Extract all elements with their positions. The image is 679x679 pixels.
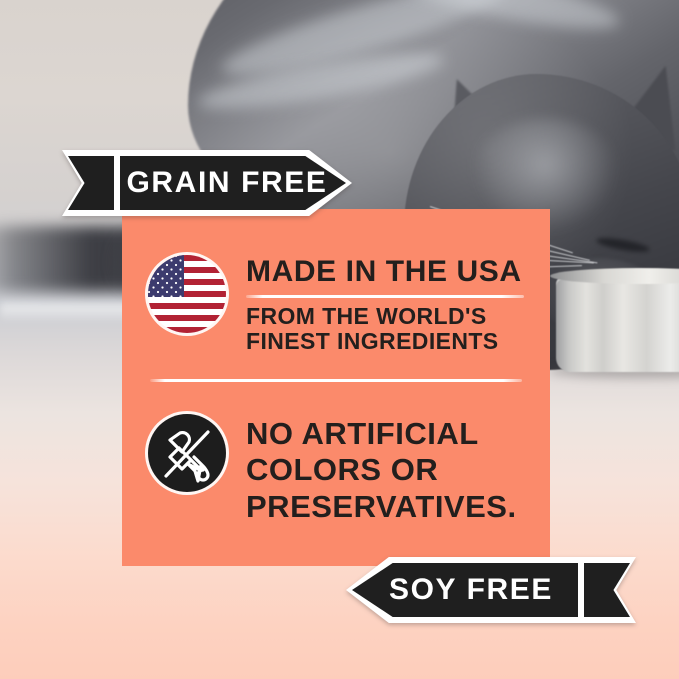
feature-headline-line-1: NO ARTIFICIAL [246, 416, 524, 452]
food-bowl [556, 276, 679, 372]
banner-tail-right [578, 557, 636, 623]
feature-card: MADE IN THE USA FROM THE WORLD'S FINEST … [122, 209, 550, 566]
feature-made-in-usa: MADE IN THE USA FROM THE WORLD'S FINEST … [148, 255, 524, 355]
feature-subline-2: FINEST INGREDIENTS [246, 329, 524, 355]
feature-subline-1: FROM THE WORLD'S [246, 304, 524, 330]
section-divider [150, 379, 522, 382]
banner-label: GRAIN FREE [114, 150, 352, 216]
banner-soy-free: SOY FREE [346, 557, 636, 623]
banner-text: GRAIN FREE [126, 166, 327, 200]
headline-underline [246, 295, 524, 298]
product-feature-graphic: MADE IN THE USA FROM THE WORLD'S FINEST … [0, 0, 679, 679]
feature-headline-line-2: COLORS OR [246, 452, 524, 488]
feature-headline: MADE IN THE USA [246, 257, 524, 288]
banner-tail-left [62, 150, 120, 216]
banner-label: SOY FREE [346, 557, 584, 623]
feature-no-artificial: NO ARTIFICIAL COLORS OR PRESERVATIVES. [148, 414, 524, 525]
banner-text: SOY FREE [389, 573, 553, 607]
feature-headline-line-3: PRESERVATIVES. [246, 489, 524, 525]
usa-flag-icon [148, 255, 226, 333]
banner-grain-free: GRAIN FREE [62, 150, 352, 216]
no-dropper-icon [148, 414, 226, 492]
